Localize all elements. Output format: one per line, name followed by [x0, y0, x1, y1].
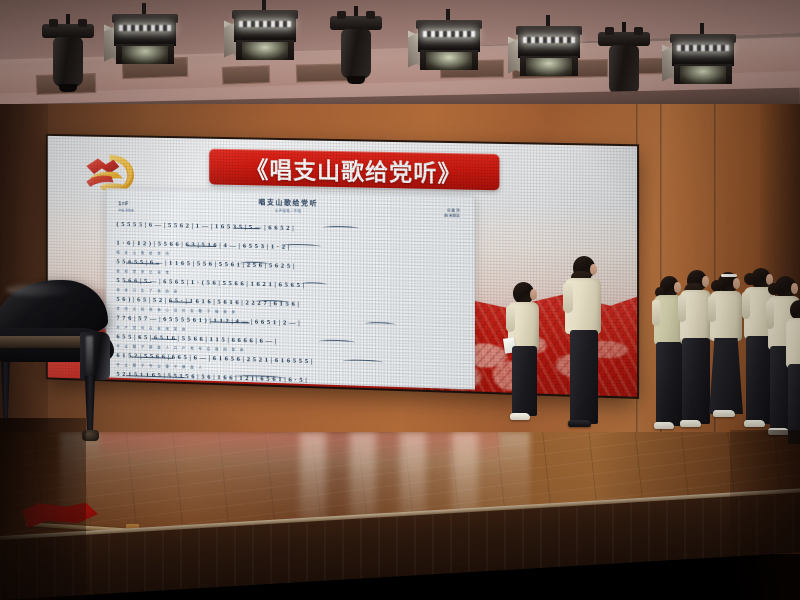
student-trousers: [682, 338, 710, 424]
piano-side-highlight: [86, 336, 93, 376]
student-shoe: [654, 422, 674, 429]
student-front-short: [505, 282, 545, 434]
student-hair-bun: [744, 273, 756, 285]
student-trousers: [512, 346, 537, 416]
light-glow: [526, 58, 572, 76]
led-strip: [423, 31, 475, 37]
shadow-left-corner: [0, 418, 86, 600]
light-head: [341, 29, 371, 79]
light-lens: [59, 84, 77, 92]
ceiling: [0, 0, 800, 118]
tempo-marking: 中速 深情地: [118, 208, 133, 212]
staff-lyrics: 我 把 党 来 比 母 亲: [116, 268, 170, 274]
student-shoe: [568, 420, 591, 427]
light-glow: [426, 52, 472, 70]
note-slur: [319, 339, 355, 344]
song-title-text: 《唱支山歌给党听》: [246, 150, 462, 188]
student-shoe: [680, 420, 701, 427]
ceiling-vent: [222, 65, 271, 85]
student-shoe: [713, 410, 735, 417]
note-slur: [240, 262, 270, 267]
light-yoke: [330, 16, 382, 30]
student-face: [530, 289, 537, 300]
student-trousers: [570, 330, 598, 424]
student-sleeve: [766, 301, 774, 329]
key-signature: 1=F: [118, 201, 128, 207]
student-face: [791, 283, 798, 294]
light-glow: [680, 66, 726, 84]
led-strip: [523, 37, 575, 43]
staff-lyrics: 唱 支 山 歌 给 党 听: [116, 249, 170, 255]
student-face: [733, 278, 740, 289]
light-yoke: [42, 24, 94, 38]
staff-lyrics: 母 亲 只 生 了 我 的 身: [116, 287, 179, 294]
student-hair-bun: [768, 283, 779, 295]
led-display-screen[interactable]: 《唱支山歌给党听》 唱支山歌给党听 女声独唱／齐唱 1=F 中速 深情地 词 蕉…: [48, 136, 637, 397]
note-slur: [343, 359, 383, 364]
led-strip: [119, 25, 171, 31]
light-head: [609, 45, 639, 95]
composer-credits: 词 蕉 萍 曲 朱践耳: [444, 208, 460, 218]
student-skirt: [709, 338, 743, 414]
note-slur: [301, 282, 327, 287]
staff-lyrics: 共 产 党 号 召 我 闹 革 命: [116, 324, 187, 331]
student-shoe: [744, 420, 765, 427]
light-glow: [242, 42, 288, 60]
student-sleeve: [506, 306, 515, 332]
student-headband: [721, 274, 737, 277]
light-lens: [347, 76, 365, 84]
song-title-banner: 《唱支山歌给党听》: [209, 149, 499, 191]
student-sleeve: [708, 296, 716, 322]
led-strip: [677, 45, 729, 51]
student-sleeve: [742, 292, 750, 319]
led-strip: [239, 21, 291, 27]
note-slur: [365, 322, 395, 327]
student-shirt: [786, 318, 800, 368]
staff-lyrics: 夺 过 鞭 子 夺 过 鞭 子 揍 敌 人: [116, 361, 203, 369]
piano-lid-highlight: [6, 284, 76, 296]
light-yoke: [598, 32, 650, 46]
student-face: [590, 264, 597, 275]
light-head: [53, 37, 83, 87]
piano-leg: [0, 362, 11, 418]
student-sleeve: [652, 300, 660, 326]
light-glow: [122, 46, 168, 64]
sheet-music-card: 唱支山歌给党听 女声独唱／齐唱 1=F 中速 深情地 词 蕉 萍 曲 朱践耳 (…: [106, 188, 475, 389]
student-sleeve: [563, 283, 573, 313]
shadow-right-corner: [730, 430, 800, 600]
composer-credit: 曲 朱践耳: [444, 213, 460, 218]
note-slur: [323, 226, 359, 231]
student-front-tall: [563, 256, 607, 438]
piano-side-panel: [80, 332, 110, 380]
student-sleeve: [678, 295, 686, 322]
student-shoe: [510, 413, 530, 420]
grand-piano: [0, 270, 124, 440]
staff-notes: ( 5 5 5 5 | 6 — | 5 5 6 2 | 1 — | 1 6 5 …: [116, 222, 294, 233]
student-hair: [790, 300, 800, 320]
auditorium-stage-photo: 《唱支山歌给党听》 唱支山歌给党听 女声独唱／齐唱 1=F 中速 深情地 词 蕉…: [0, 0, 800, 600]
